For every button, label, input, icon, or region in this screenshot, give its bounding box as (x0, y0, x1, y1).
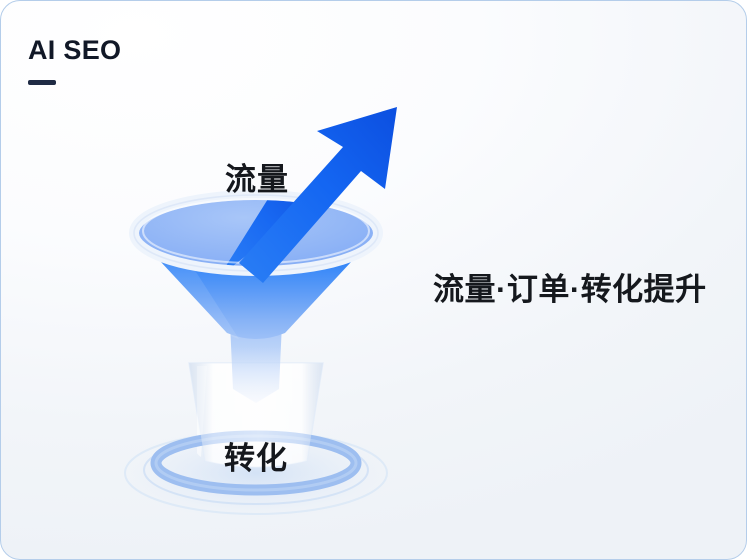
page-title: AI SEO (28, 37, 328, 64)
funnel-label-conversion: 转化 (224, 433, 288, 478)
title-underline-rule (28, 80, 56, 85)
funnel-label-traffic: 流量 (225, 154, 289, 199)
brand-block: AI SEO (28, 37, 328, 85)
illustration-canvas: AI SEO (0, 0, 747, 560)
headline-text: 流量·订单·转化提升 (433, 273, 707, 307)
